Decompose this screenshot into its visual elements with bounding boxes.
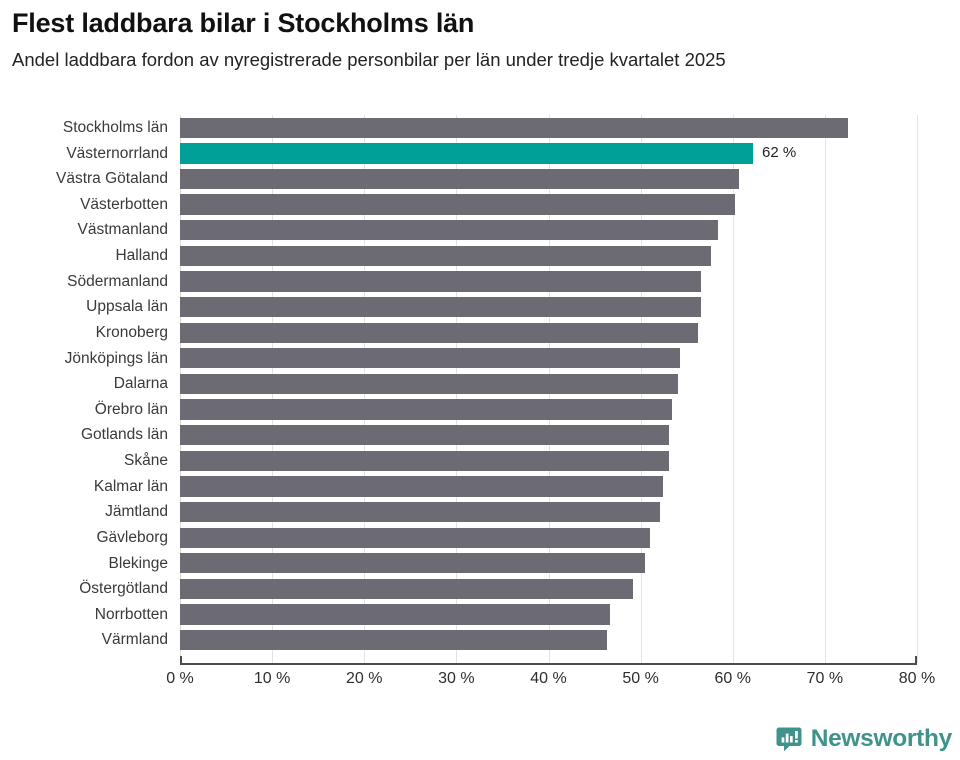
- y-axis-label: Blekinge: [109, 551, 168, 577]
- x-tick-label: 50 %: [622, 670, 658, 688]
- page-title: Flest laddbara bilar i Stockholms län: [12, 8, 948, 38]
- x-axis-cap-right: [915, 656, 917, 665]
- x-axis-line: [180, 663, 917, 665]
- x-tick-label: 0 %: [166, 670, 194, 688]
- bar-rows: 62 %: [180, 115, 917, 663]
- y-axis-label: Stockholms län: [63, 115, 168, 141]
- y-axis-label: Örebro län: [95, 397, 168, 423]
- bar-row: [180, 166, 917, 192]
- y-axis-label: Skåne: [124, 448, 168, 474]
- bar-row: [180, 448, 917, 474]
- bar-highlighted: [180, 143, 753, 163]
- x-tick-label: 70 %: [807, 670, 843, 688]
- bar: [180, 246, 711, 266]
- bar-row: [180, 269, 917, 295]
- bar: [180, 271, 701, 291]
- y-axis-label: Västmanland: [78, 217, 168, 243]
- bar: [180, 323, 698, 343]
- x-tick-label: 20 %: [346, 670, 382, 688]
- x-tick-label: 80 %: [899, 670, 935, 688]
- bar: [180, 528, 650, 548]
- x-tick-label: 60 %: [715, 670, 751, 688]
- bar-row: 62 %: [180, 141, 917, 167]
- bar: [180, 220, 718, 240]
- bar: [180, 297, 701, 317]
- bar-row: [180, 371, 917, 397]
- newsworthy-logo[interactable]: Newsworthy: [776, 726, 952, 752]
- y-axis-label: Norrbotten: [95, 602, 168, 628]
- plot-area: 62 %: [180, 115, 917, 663]
- bar-row: [180, 346, 917, 372]
- bar: [180, 630, 607, 650]
- bar: [180, 194, 735, 214]
- y-axis-label: Värmland: [102, 627, 168, 653]
- gridline: [917, 115, 918, 663]
- bar-row: [180, 627, 917, 653]
- bar-row: [180, 217, 917, 243]
- bar-row: [180, 294, 917, 320]
- chart-subtitle: Andel laddbara fordon av nyregistrerade …: [12, 49, 948, 71]
- y-axis-label: Jämtland: [105, 499, 168, 525]
- bar: [180, 348, 680, 368]
- bar-chart: Stockholms länVästernorrlandVästra Götal…: [0, 110, 960, 710]
- bar-row: [180, 192, 917, 218]
- y-axis-label: Jönköpings län: [65, 346, 168, 372]
- logo-wordmark: Newsworthy: [811, 727, 952, 752]
- bar-row: [180, 602, 917, 628]
- bar-row: [180, 243, 917, 269]
- y-axis-label: Halland: [115, 243, 168, 269]
- y-axis-label: Västernorrland: [66, 141, 168, 167]
- y-axis-label: Uppsala län: [86, 294, 168, 320]
- bar: [180, 476, 663, 496]
- chart-header: Flest laddbara bilar i Stockholms län An…: [0, 0, 960, 71]
- bar-chart-speech-bubble-icon: [776, 726, 802, 752]
- bar-row: [180, 551, 917, 577]
- y-axis-label: Gävleborg: [96, 525, 168, 551]
- y-axis-category-labels: Stockholms länVästernorrlandVästra Götal…: [0, 115, 168, 663]
- bar: [180, 399, 672, 419]
- bar-row: [180, 320, 917, 346]
- bar: [180, 502, 660, 522]
- y-axis-label: Västerbotten: [80, 192, 168, 218]
- y-axis-label: Dalarna: [114, 371, 168, 397]
- bar: [180, 579, 633, 599]
- bar: [180, 425, 669, 445]
- bar: [180, 374, 678, 394]
- y-axis-label: Kalmar län: [94, 474, 168, 500]
- bar: [180, 553, 645, 573]
- y-axis-label: Västra Götaland: [56, 166, 168, 192]
- bar-row: [180, 397, 917, 423]
- x-tick-label: 30 %: [438, 670, 474, 688]
- x-axis-cap-left: [180, 656, 182, 665]
- bar-row: [180, 422, 917, 448]
- bar-value-label: 62 %: [762, 143, 796, 163]
- bar-row: [180, 525, 917, 551]
- y-axis-label: Östergötland: [79, 576, 168, 602]
- y-axis-label: Kronoberg: [96, 320, 168, 346]
- x-tick-label: 10 %: [254, 670, 290, 688]
- bar-row: [180, 474, 917, 500]
- bar: [180, 604, 610, 624]
- x-tick-label: 40 %: [530, 670, 566, 688]
- bar: [180, 169, 739, 189]
- bar: [180, 451, 669, 471]
- bar-row: [180, 576, 917, 602]
- y-axis-label: Södermanland: [67, 269, 168, 295]
- bar-row: [180, 115, 917, 141]
- bar: [180, 118, 848, 138]
- bar-row: [180, 499, 917, 525]
- y-axis-label: Gotlands län: [81, 422, 168, 448]
